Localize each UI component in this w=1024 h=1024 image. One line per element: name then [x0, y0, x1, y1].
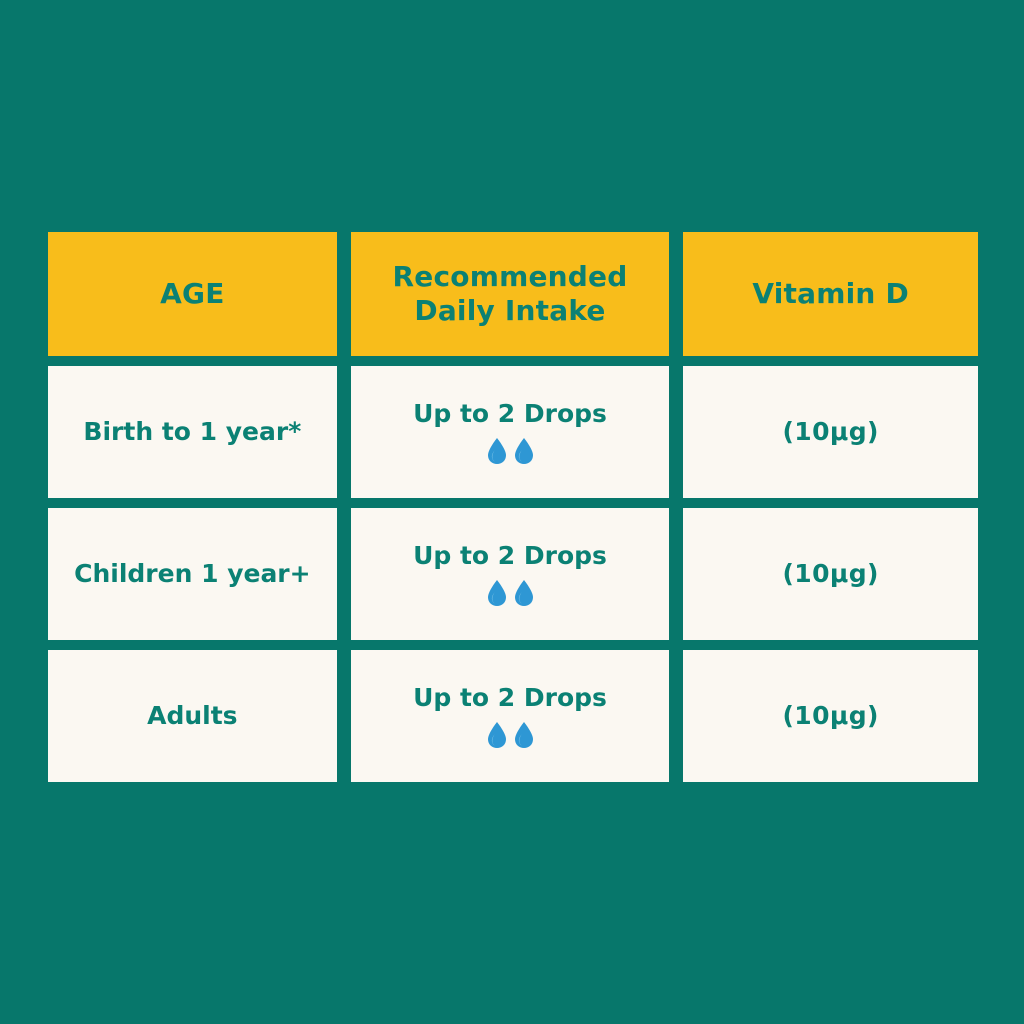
vitamin-d-value: (10μg): [782, 700, 878, 731]
water-droplet-icon: [486, 579, 508, 607]
water-droplet-icon: [486, 721, 508, 749]
vitamin-d-intake-table: AGE Recommended Daily Intake Vitamin D B…: [48, 232, 978, 782]
table-row: Birth to 1 year* Up to 2 Drops: [48, 366, 978, 498]
water-droplet-icon: [513, 721, 535, 749]
cell-vitamin-d: (10μg): [683, 508, 978, 640]
intake-label: Up to 2 Drops: [413, 398, 607, 429]
table-header-age: AGE: [48, 232, 337, 356]
table-row: Children 1 year+ Up to 2 Drops: [48, 508, 978, 640]
table-header-intake-label-line1: Recommended: [393, 260, 628, 294]
drop-icon-group: [486, 720, 535, 750]
drop-icon-group: [486, 578, 535, 608]
intake-label: Up to 2 Drops: [413, 682, 607, 713]
cell-age: Adults: [48, 650, 337, 782]
cell-vitamin-d: (10μg): [683, 366, 978, 498]
page-canvas: AGE Recommended Daily Intake Vitamin D B…: [0, 0, 1024, 1024]
cell-age: Children 1 year+: [48, 508, 337, 640]
cell-intake: Up to 2 Drops: [351, 508, 670, 640]
table-header-row: AGE Recommended Daily Intake Vitamin D: [48, 232, 978, 356]
cell-age: Birth to 1 year*: [48, 366, 337, 498]
table-header-vitamin-d: Vitamin D: [683, 232, 978, 356]
age-label: Children 1 year+: [74, 558, 310, 589]
table-row: Adults Up to 2 Drops: [48, 650, 978, 782]
water-droplet-icon: [513, 437, 535, 465]
water-droplet-icon: [513, 579, 535, 607]
vitamin-d-value: (10μg): [782, 416, 878, 447]
drop-icon-group: [486, 436, 535, 466]
intake-label: Up to 2 Drops: [413, 540, 607, 571]
cell-vitamin-d: (10μg): [683, 650, 978, 782]
vitamin-d-value: (10μg): [782, 558, 878, 589]
water-droplet-icon: [486, 437, 508, 465]
age-label: Birth to 1 year*: [83, 416, 301, 447]
table-header-recommended-daily-intake: Recommended Daily Intake: [351, 232, 670, 356]
age-label: Adults: [147, 700, 237, 731]
table-header-intake-label-line2: Daily Intake: [414, 294, 605, 328]
cell-intake: Up to 2 Drops: [351, 366, 670, 498]
table-header-vitamin-d-label: Vitamin D: [752, 277, 909, 311]
cell-intake: Up to 2 Drops: [351, 650, 670, 782]
table-header-age-label: AGE: [160, 277, 224, 311]
